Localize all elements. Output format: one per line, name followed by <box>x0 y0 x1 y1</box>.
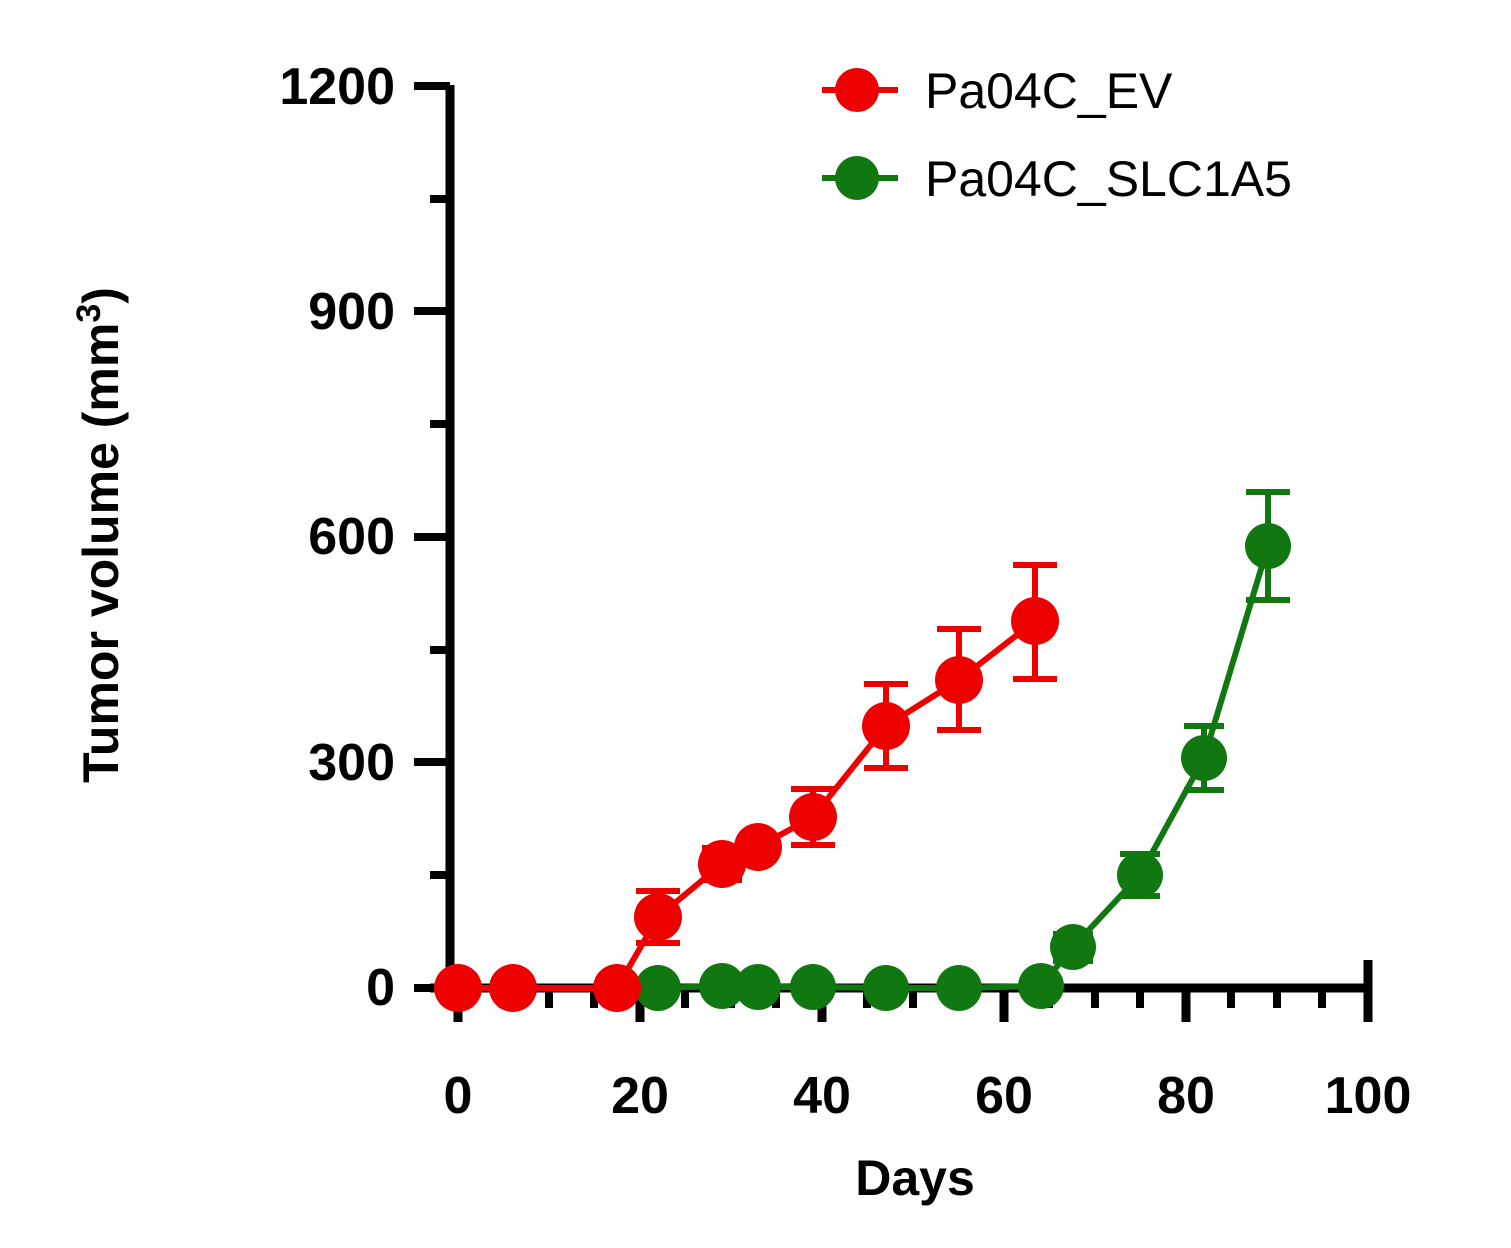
x-tick-label-20: 20 <box>611 1067 669 1125</box>
x-tick-label-100: 100 <box>1325 1067 1412 1125</box>
data-point <box>635 965 681 1011</box>
x-tick-label-0: 0 <box>444 1067 473 1125</box>
data-point <box>434 964 482 1012</box>
data-point <box>936 965 982 1011</box>
y-tick-label-1200: 1200 <box>279 58 395 116</box>
tumor-volume-line-chart: 0 300 600 900 1200 <box>0 0 1511 1248</box>
data-point <box>593 964 641 1012</box>
data-point <box>1018 963 1064 1009</box>
chart-figure: 0 300 600 900 1200 <box>0 0 1511 1248</box>
y-axis-title-base: Tumor volume (mm <box>73 323 129 783</box>
data-point <box>489 964 537 1012</box>
data-point <box>1011 597 1059 645</box>
data-point <box>935 656 983 704</box>
x-axis-title: Days <box>855 1150 975 1206</box>
x-axis-title-text: Days <box>855 1150 975 1206</box>
y-axis-title-superscript: 3 <box>70 304 108 323</box>
y-axis-title-close: ) <box>73 287 129 304</box>
svg-text:Tumor volume (mm3): Tumor volume (mm3) <box>70 287 129 783</box>
x-tick-label-40: 40 <box>793 1067 851 1125</box>
x-tick-label-80: 80 <box>1157 1067 1215 1125</box>
y-tick-label-600: 600 <box>308 508 395 566</box>
y-tick-label-0: 0 <box>366 959 395 1017</box>
data-point <box>735 964 781 1010</box>
data-point <box>1181 735 1227 781</box>
data-point <box>789 793 837 841</box>
y-tick-label-300: 300 <box>308 734 395 792</box>
y-tick-label-900: 900 <box>308 283 395 341</box>
data-point <box>862 702 910 750</box>
data-point <box>863 965 909 1011</box>
legend-label-slc1a5: Pa04C_SLC1A5 <box>925 151 1292 207</box>
data-point <box>1245 523 1291 569</box>
legend-marker-slc1a5 <box>835 156 879 200</box>
y-axis-title: Tumor volume (mm3) <box>70 287 129 783</box>
data-point <box>790 964 836 1010</box>
legend-label-ev: Pa04C_EV <box>925 63 1173 119</box>
data-point <box>634 893 682 941</box>
data-point <box>1050 924 1096 970</box>
data-point <box>1117 852 1163 898</box>
data-point <box>734 823 782 871</box>
x-tick-label-60: 60 <box>975 1067 1033 1125</box>
legend-marker-ev <box>835 68 879 112</box>
